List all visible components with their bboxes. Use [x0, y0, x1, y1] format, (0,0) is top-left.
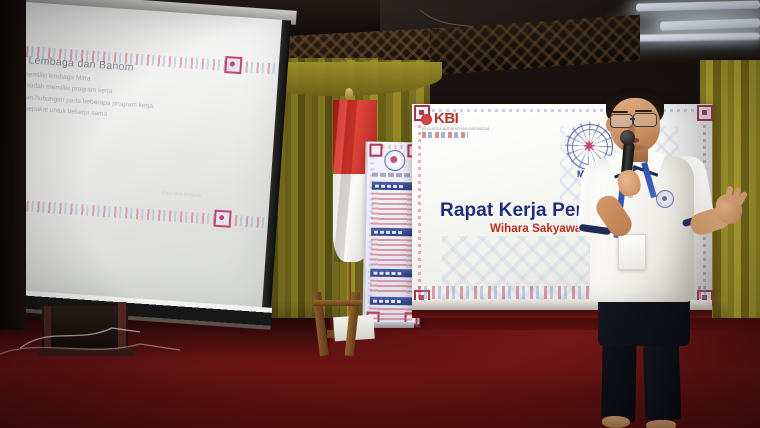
dark-wall-left	[0, 0, 26, 330]
banner-section-heading	[371, 228, 414, 237]
banner-section-body	[370, 239, 413, 267]
banner-title-text	[372, 173, 415, 178]
banner-corner-ornament	[369, 144, 382, 157]
photo-scene: kusi antar Lembaga dan Banom na daerah m…	[0, 0, 760, 428]
banner-section-heading	[372, 182, 415, 191]
banner-section-body	[369, 308, 412, 322]
leg-left	[601, 336, 636, 423]
kbi-emblem-icon	[421, 114, 432, 125]
microphone-icon	[620, 130, 635, 145]
eyeglasses-lens-right	[633, 113, 657, 127]
screen-surface: kusi antar Lembaga dan Banom na daerah m…	[0, 0, 288, 316]
banner-section-heading	[370, 269, 413, 278]
banner-section-body	[370, 280, 413, 295]
bare-foot-left	[602, 416, 630, 428]
slide-footnote: Rapat Kerja Pengurus	[162, 190, 202, 198]
eyeglasses-bridge	[630, 118, 635, 120]
banner-section-heading	[370, 297, 413, 306]
kbi-logo: KBI KELUARGA BUDDHAYANA INDONESIA	[421, 112, 483, 138]
kbi-partner-icons	[422, 132, 468, 138]
slide-corner-ornament	[214, 210, 232, 228]
floor-cable	[0, 336, 180, 360]
projection-screen: kusi antar Lembaga dan Banom na daerah m…	[0, 0, 297, 330]
slide-border-bottom	[0, 197, 274, 228]
kbi-logo-text: KBI	[434, 110, 458, 127]
shirt-chest-emblem-icon	[656, 190, 674, 208]
banner-section-body	[371, 193, 415, 226]
speaker-person	[540, 86, 740, 428]
bare-foot-right	[646, 420, 676, 428]
id-card-badge	[618, 234, 646, 270]
leg-right	[643, 335, 682, 420]
easel-crossbar	[314, 300, 362, 306]
kbi-logo-tagline: KELUARGA BUDDHAYANA INDONESIA	[422, 127, 489, 131]
rollup-banner-base	[368, 322, 414, 328]
flag-finial	[345, 88, 353, 100]
